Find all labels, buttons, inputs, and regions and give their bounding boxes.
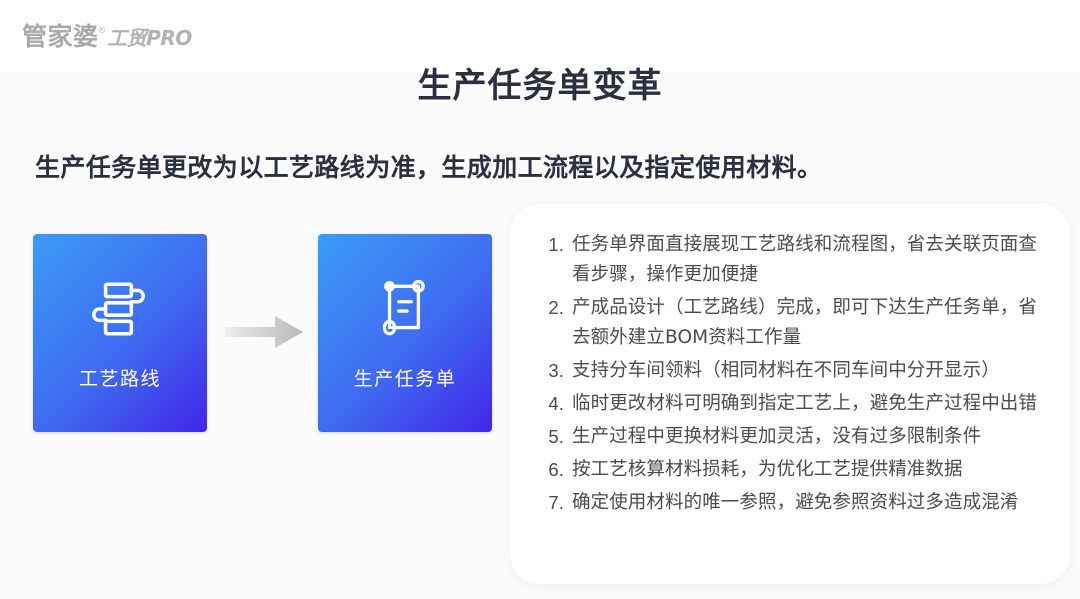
list-item: 任务单界面直接展现工艺路线和流程图，省去关联页面查看步骤，操作更加便捷 (536, 230, 1048, 290)
benefits-list: 任务单界面直接展现工艺路线和流程图，省去关联页面查看步骤，操作更加便捷 产成品设… (510, 204, 1070, 518)
list-item: 临时更改材料可明确到指定工艺上，避免生产过程中出错 (536, 389, 1048, 419)
brand-logo-registered-mark: ® (99, 26, 106, 35)
flow-card-label: 生产任务单 (354, 364, 457, 391)
flow-diagram: 工艺路线 生产任 (33, 234, 483, 434)
brand-logo: 管家婆 ® 工贸PRO (22, 24, 192, 49)
production-task-document-icon (372, 276, 438, 342)
page-subtitle: 生产任务单更改为以工艺路线为准，生成加工流程以及指定使用材料。 (35, 148, 822, 184)
process-route-flowchart-icon (87, 276, 153, 342)
brand-logo-cn: 管家婆 (22, 24, 99, 49)
list-item: 按工艺核算材料损耗，为优化工艺提供精准数据 (536, 455, 1048, 485)
flow-card-production-task[interactable]: 生产任务单 (318, 234, 492, 432)
list-item: 生产过程中更换材料更加灵活，没有过多限制条件 (536, 422, 1048, 452)
list-item: 支持分车间领料（相同材料在不同车间中分开显示） (536, 356, 1048, 386)
list-item: 确定使用材料的唯一参照，避免参照资料过多造成混淆 (536, 488, 1048, 518)
benefits-panel: 任务单界面直接展现工艺路线和流程图，省去关联页面查看步骤，操作更加便捷 产成品设… (510, 204, 1070, 584)
page-title: 生产任务单变革 (0, 58, 1080, 107)
list-item: 产成品设计（工艺路线）完成，即可下达生产任务单，省去额外建立BOM资料工作量 (536, 293, 1048, 353)
slide-root: 管家婆 ® 工贸PRO 生产任务单变革 生产任务单更改为以工艺路线为准，生成加工… (0, 0, 1080, 599)
flow-card-process-route[interactable]: 工艺路线 (33, 234, 207, 432)
arrow-right-icon (225, 312, 303, 352)
flow-card-label: 工艺路线 (79, 364, 161, 391)
brand-logo-suffix: 工贸PRO (107, 28, 192, 48)
